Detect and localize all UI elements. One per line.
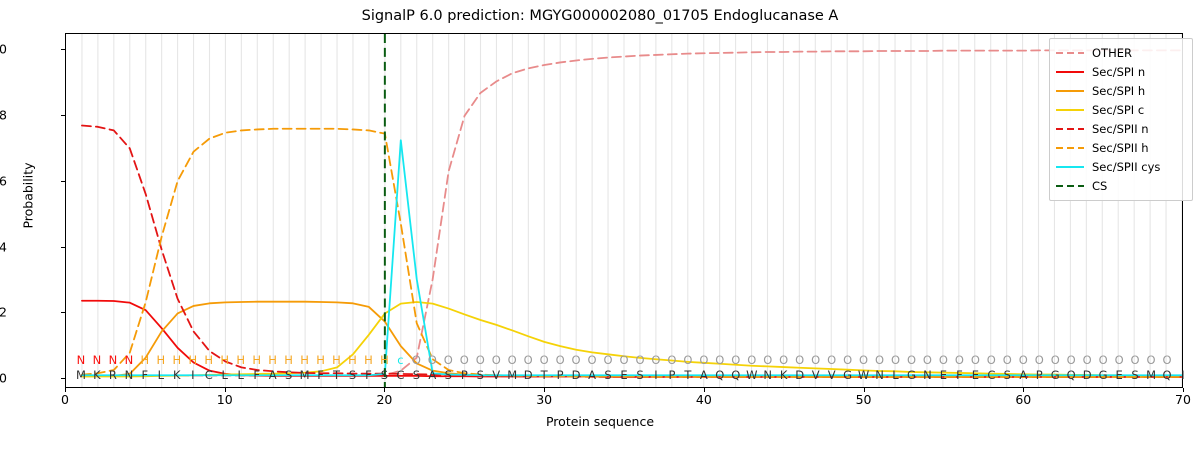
- legend-label: Sec/SPII cys: [1092, 160, 1160, 174]
- region-annotation-row: NNNNHHHHHHHHHHHHHHHHcOOOOOOOOOOOOOOOOOOO…: [65, 352, 1183, 368]
- region-marker: O: [552, 352, 568, 368]
- region-marker: O: [872, 352, 888, 368]
- residue-letter: G: [1047, 367, 1063, 383]
- residue-letter: K: [169, 367, 185, 383]
- residue-letter: M: [73, 367, 89, 383]
- residue-letter: D: [792, 367, 808, 383]
- region-marker: H: [217, 352, 233, 368]
- region-marker: H: [201, 352, 217, 368]
- residue-letter: A: [584, 367, 600, 383]
- region-marker: N: [105, 352, 121, 368]
- region-marker: O: [728, 352, 744, 368]
- legend-line-icon: [1055, 66, 1085, 78]
- residue-letter: C: [983, 367, 999, 383]
- region-marker: H: [233, 352, 249, 368]
- region-marker: c: [392, 352, 408, 368]
- legend-item[interactable]: CS: [1055, 176, 1187, 195]
- region-marker: H: [185, 352, 201, 368]
- region-marker: O: [696, 352, 712, 368]
- legend-label: Sec/SPI n: [1092, 65, 1145, 79]
- x-tick-mark: [704, 388, 705, 392]
- region-marker: H: [249, 352, 265, 368]
- region-marker: H: [297, 352, 313, 368]
- region-marker: N: [121, 352, 137, 368]
- residue-letter: D: [520, 367, 536, 383]
- region-marker: H: [265, 352, 281, 368]
- x-tick-label: 30: [536, 392, 552, 407]
- region-marker: N: [89, 352, 105, 368]
- residue-letter: K: [776, 367, 792, 383]
- x-tick-label: 70: [1175, 392, 1191, 407]
- region-marker: O: [983, 352, 999, 368]
- residue-letter: L: [217, 367, 233, 383]
- residue-letter: M: [1143, 367, 1159, 383]
- region-marker: O: [472, 352, 488, 368]
- residue-letter: R: [105, 367, 121, 383]
- residue-letter: S: [440, 367, 456, 383]
- region-marker: O: [568, 352, 584, 368]
- protein-sequence-row: MKRNFLKICLLFASMFTSFSCSASPSVMDTPDASESIPTA…: [65, 367, 1183, 383]
- region-marker: H: [153, 352, 169, 368]
- region-marker: H: [329, 352, 345, 368]
- y-tick-label: 1.0: [0, 42, 7, 57]
- residue-letter: F: [360, 367, 376, 383]
- residue-letter: E: [935, 367, 951, 383]
- chart-legend[interactable]: OTHERSec/SPI nSec/SPI hSec/SPI cSec/SPII…: [1049, 38, 1193, 201]
- region-marker: O: [919, 352, 935, 368]
- residue-letter: A: [1015, 367, 1031, 383]
- residue-letter: P: [456, 367, 472, 383]
- region-marker: H: [344, 352, 360, 368]
- residue-letter: W: [856, 367, 872, 383]
- residue-letter: V: [824, 367, 840, 383]
- signalp-prediction-figure: SignalP 6.0 prediction: MGYG000002080_01…: [0, 0, 1200, 450]
- region-marker: O: [888, 352, 904, 368]
- region-marker: H: [137, 352, 153, 368]
- legend-label: Sec/SPI c: [1092, 103, 1144, 117]
- residue-letter: Q: [728, 367, 744, 383]
- residue-letter: L: [153, 367, 169, 383]
- residue-letter: N: [919, 367, 935, 383]
- region-marker: O: [744, 352, 760, 368]
- x-tick-mark: [1023, 388, 1024, 392]
- x-tick-label: 40: [696, 392, 712, 407]
- x-tick-label: 60: [1015, 392, 1031, 407]
- region-marker: O: [1127, 352, 1143, 368]
- residue-letter: F: [249, 367, 265, 383]
- residue-letter: S: [472, 367, 488, 383]
- x-axis-label: Protein sequence: [0, 414, 1200, 429]
- residue-letter: F: [313, 367, 329, 383]
- region-marker: O: [520, 352, 536, 368]
- residue-letter: F: [137, 367, 153, 383]
- residue-letter: S: [600, 367, 616, 383]
- region-marker: O: [680, 352, 696, 368]
- region-marker: O: [1015, 352, 1031, 368]
- residue-letter: Q: [712, 367, 728, 383]
- region-marker: H: [376, 352, 392, 368]
- y-tick-label: 0.4: [0, 239, 7, 254]
- region-marker: O: [760, 352, 776, 368]
- y-tick-label: 0.8: [0, 108, 7, 123]
- region-marker: O: [632, 352, 648, 368]
- region-marker: O: [456, 352, 472, 368]
- residue-letter: M: [297, 367, 313, 383]
- region-marker: O: [824, 352, 840, 368]
- residue-letter: M: [504, 367, 520, 383]
- region-marker: O: [808, 352, 824, 368]
- residue-letter: P: [1031, 367, 1047, 383]
- legend-label: CS: [1092, 179, 1107, 193]
- x-tick-mark: [544, 388, 545, 392]
- residue-letter: G: [1095, 367, 1111, 383]
- region-marker: O: [712, 352, 728, 368]
- residue-letter: N: [760, 367, 776, 383]
- residue-letter: S: [1127, 367, 1143, 383]
- residue-letter: L: [233, 367, 249, 383]
- legend-line-icon: [1055, 123, 1085, 135]
- region-marker: O: [408, 352, 424, 368]
- region-marker: O: [792, 352, 808, 368]
- residue-letter: Q: [1063, 367, 1079, 383]
- residue-letter: S: [281, 367, 297, 383]
- region-marker: O: [440, 352, 456, 368]
- residue-letter: C: [392, 367, 408, 383]
- residue-letter: S: [376, 367, 392, 383]
- residue-letter: Q: [1159, 367, 1175, 383]
- region-marker: O: [616, 352, 632, 368]
- residue-letter: V: [808, 367, 824, 383]
- legend-line-icon: [1055, 180, 1085, 192]
- x-tick-mark: [65, 388, 66, 392]
- residue-letter: I: [648, 367, 664, 383]
- legend-item[interactable]: OTHER: [1055, 43, 1187, 62]
- residue-letter: P: [664, 367, 680, 383]
- residue-letter: N: [121, 367, 137, 383]
- region-marker: O: [664, 352, 680, 368]
- legend-item[interactable]: Sec/SPII n: [1055, 119, 1187, 138]
- region-marker: O: [1095, 352, 1111, 368]
- region-marker: O: [999, 352, 1015, 368]
- x-tick-label: 0: [61, 392, 69, 407]
- residue-letter: S: [344, 367, 360, 383]
- residue-letter: G: [903, 367, 919, 383]
- residue-letter: S: [632, 367, 648, 383]
- plot-area: [65, 33, 1183, 388]
- legend-item[interactable]: Sec/SPII h: [1055, 138, 1187, 157]
- legend-label: Sec/SPII h: [1092, 141, 1149, 155]
- residue-letter: T: [329, 367, 345, 383]
- legend-item[interactable]: Sec/SPI c: [1055, 100, 1187, 119]
- residue-letter: I: [185, 367, 201, 383]
- x-tick-mark: [225, 388, 226, 392]
- region-marker: O: [1031, 352, 1047, 368]
- residue-letter: D: [568, 367, 584, 383]
- region-marker: O: [600, 352, 616, 368]
- x-tick-mark: [384, 388, 385, 392]
- region-marker: O: [536, 352, 552, 368]
- residue-letter: T: [536, 367, 552, 383]
- legend-item[interactable]: Sec/SPII cys: [1055, 157, 1187, 176]
- residue-letter: F: [951, 367, 967, 383]
- legend-line-icon: [1055, 142, 1085, 154]
- residue-letter: S: [999, 367, 1015, 383]
- x-tick-label: 20: [376, 392, 392, 407]
- x-tick-mark: [1183, 388, 1184, 392]
- region-marker: H: [169, 352, 185, 368]
- x-tick-label: 10: [217, 392, 233, 407]
- residue-letter: W: [744, 367, 760, 383]
- residue-letter: I: [1175, 367, 1191, 383]
- legend-label: Sec/SPII n: [1092, 122, 1149, 136]
- residue-letter: P: [552, 367, 568, 383]
- residue-letter: C: [201, 367, 217, 383]
- legend-item[interactable]: Sec/SPI h: [1055, 81, 1187, 100]
- region-marker: O: [1063, 352, 1079, 368]
- legend-label: OTHER: [1092, 46, 1132, 60]
- residue-letter: A: [696, 367, 712, 383]
- region-marker: O: [840, 352, 856, 368]
- region-marker: O: [584, 352, 600, 368]
- region-marker: O: [856, 352, 872, 368]
- residue-letter: E: [616, 367, 632, 383]
- region-marker: O: [1047, 352, 1063, 368]
- region-marker: O: [1111, 352, 1127, 368]
- region-marker: O: [1143, 352, 1159, 368]
- y-axis-label: Probability: [21, 86, 36, 306]
- region-marker: O: [935, 352, 951, 368]
- legend-item[interactable]: Sec/SPI n: [1055, 62, 1187, 81]
- region-marker: O: [967, 352, 983, 368]
- region-marker: O: [903, 352, 919, 368]
- residue-letter: S: [408, 367, 424, 383]
- residue-letter: K: [89, 367, 105, 383]
- legend-line-icon: [1055, 85, 1085, 97]
- region-marker: O: [504, 352, 520, 368]
- region-marker: H: [360, 352, 376, 368]
- legend-label: Sec/SPI h: [1092, 84, 1145, 98]
- legend-line-icon: [1055, 161, 1085, 173]
- y-tick-label: 0.0: [0, 371, 7, 386]
- region-marker: H: [313, 352, 329, 368]
- x-tick-label: 50: [856, 392, 872, 407]
- residue-letter: L: [888, 367, 904, 383]
- region-marker: O: [776, 352, 792, 368]
- residue-letter: N: [872, 367, 888, 383]
- residue-letter: E: [1111, 367, 1127, 383]
- residue-letter: D: [1079, 367, 1095, 383]
- residue-letter: G: [840, 367, 856, 383]
- region-marker: H: [281, 352, 297, 368]
- region-marker: O: [1079, 352, 1095, 368]
- curves: [66, 34, 1182, 387]
- residue-letter: T: [680, 367, 696, 383]
- region-marker: O: [488, 352, 504, 368]
- region-marker: O: [648, 352, 664, 368]
- residue-letter: V: [488, 367, 504, 383]
- region-marker: N: [73, 352, 89, 368]
- region-marker: O: [1159, 352, 1175, 368]
- page-title: SignalP 6.0 prediction: MGYG000002080_01…: [0, 8, 1200, 24]
- region-marker: O: [951, 352, 967, 368]
- y-tick-label: 0.6: [0, 173, 7, 188]
- y-tick-label: 0.2: [0, 305, 7, 320]
- x-tick-mark: [864, 388, 865, 392]
- residue-letter: A: [265, 367, 281, 383]
- residue-letter: E: [967, 367, 983, 383]
- legend-line-icon: [1055, 104, 1085, 116]
- legend-line-icon: [1055, 47, 1085, 59]
- residue-letter: A: [424, 367, 440, 383]
- region-marker: O: [424, 352, 440, 368]
